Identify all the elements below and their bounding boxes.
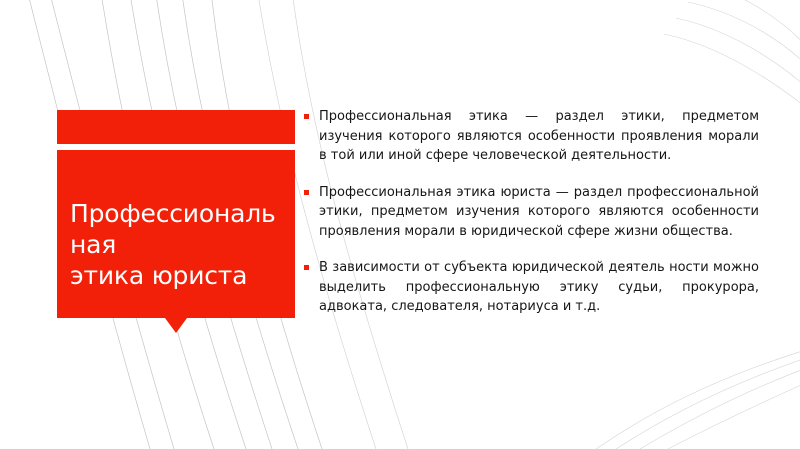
- title-callout: Профессиональ ная этика юриста: [57, 110, 295, 318]
- list-item-text: В зависимости от субъекта юридической де…: [319, 258, 759, 317]
- list-item: Профессиональная этика юриста — раздел п…: [303, 183, 759, 242]
- callout-top-accent-bar: [57, 110, 295, 144]
- list-item: В зависимости от субъекта юридической де…: [303, 258, 759, 317]
- page-title: Профессиональ ная этика юриста: [70, 198, 295, 291]
- square-bullet-icon: [304, 114, 309, 119]
- callout-pointer-triangle: [165, 318, 187, 333]
- square-bullet-icon: [304, 190, 309, 195]
- bullet-list: Профессиональная этика — раздел этики, п…: [303, 107, 759, 317]
- slide-canvas: Профессиональ ная этика юриста Профессио…: [0, 0, 800, 449]
- list-item-text: Профессиональная этика юриста — раздел п…: [319, 183, 759, 242]
- square-bullet-icon: [304, 265, 309, 270]
- list-item: Профессиональная этика — раздел этики, п…: [303, 107, 759, 166]
- list-item-text: Профессиональная этика — раздел этики, п…: [319, 107, 759, 166]
- callout-body: Профессиональ ная этика юриста: [57, 150, 295, 318]
